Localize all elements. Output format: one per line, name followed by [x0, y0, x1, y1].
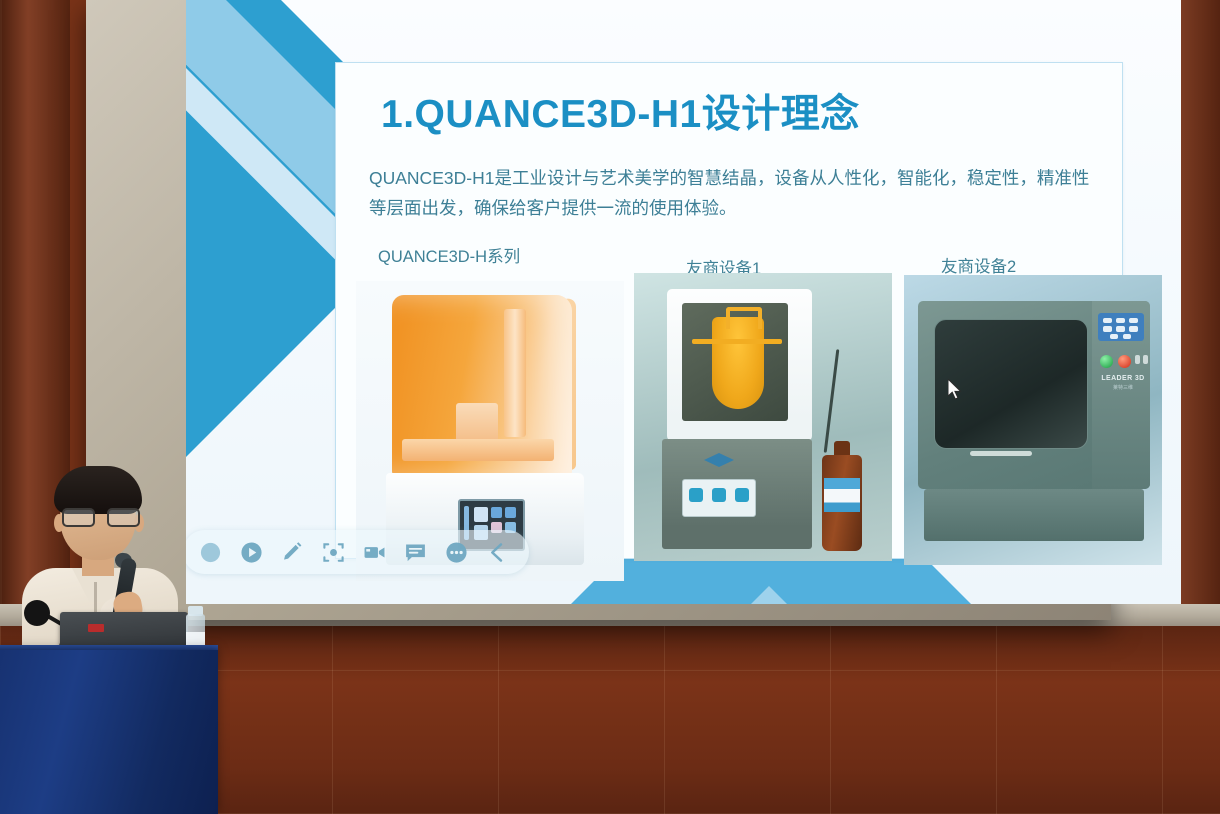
- printer3-start-button: [1100, 355, 1113, 368]
- printer3-brand-text: LEADER 3D: [1096, 375, 1150, 382]
- printer3-indicator-1: [1135, 355, 1140, 364]
- pen-icon[interactable]: [281, 541, 304, 564]
- laptop-logo: [88, 624, 104, 632]
- printer2-build-bar: [692, 339, 782, 344]
- printer3-base-plinth: [924, 489, 1144, 541]
- comment-icon[interactable]: [404, 541, 427, 564]
- presenter-toolbar[interactable]: [186, 530, 529, 574]
- speaker-hair: [54, 466, 142, 514]
- printer1-build-plate: [402, 439, 554, 461]
- laser-pointer-icon[interactable]: [322, 541, 345, 564]
- conference-room-scene: 1.QUANCE3D-H1设计理念 QUANCE3D-H1是工业设计与艺术美学的…: [0, 0, 1220, 814]
- video-camera-icon[interactable]: [363, 541, 386, 564]
- circle-icon[interactable]: [199, 541, 222, 564]
- printer3-brand-text-cn: 莱特三维: [1096, 384, 1150, 391]
- photo-competitor-printer-2: LEADER 3D 莱特三维: [904, 275, 1162, 565]
- more-icon[interactable]: [445, 541, 468, 564]
- printer2-control-panel: [682, 479, 756, 517]
- slide-title: 1.QUANCE3D-H1设计理念: [381, 83, 860, 139]
- photo-competitor-printer-1: [634, 273, 892, 561]
- play-icon[interactable]: [240, 541, 263, 564]
- projection-screen: 1.QUANCE3D-H1设计理念 QUANCE3D-H1是工业设计与艺术美学的…: [186, 0, 1181, 604]
- glasses-icon: [62, 508, 136, 523]
- printer2-resin-label: [824, 478, 860, 512]
- projection-screen-frame: 1.QUANCE3D-H1设计理念 QUANCE3D-H1是工业设计与艺术美学的…: [86, 0, 1111, 620]
- printer2-orange-print: [712, 317, 764, 409]
- printer2-build-clamp: [726, 307, 762, 329]
- chevron-left-icon[interactable]: [486, 541, 509, 564]
- caption-competitor-2: 友商设备2: [941, 253, 1016, 277]
- slide-content-card: 1.QUANCE3D-H1设计理念 QUANCE3D-H1是工业设计与艺术美学的…: [335, 62, 1123, 559]
- slide-body-text: QUANCE3D-H1是工业设计与艺术美学的智慧结晶，设备从人性化，智能化，稳定…: [369, 163, 1099, 223]
- printer1-build-head: [456, 403, 498, 443]
- printer3-indicator-2: [1143, 355, 1148, 364]
- caption-quance3d: QUANCE3D-H系列: [378, 243, 520, 267]
- printer3-door-handle: [970, 451, 1032, 456]
- gooseneck-mic-head: [24, 600, 50, 626]
- printer3-stop-button: [1118, 355, 1131, 368]
- podium: 广州城建职业学院 GUANGZHOU CITY CONSTRUCTION COL…: [0, 650, 218, 814]
- printer3-keypad: [1098, 313, 1144, 341]
- printer1-z-rail: [504, 309, 526, 437]
- printer2-feed-tube: [824, 349, 840, 453]
